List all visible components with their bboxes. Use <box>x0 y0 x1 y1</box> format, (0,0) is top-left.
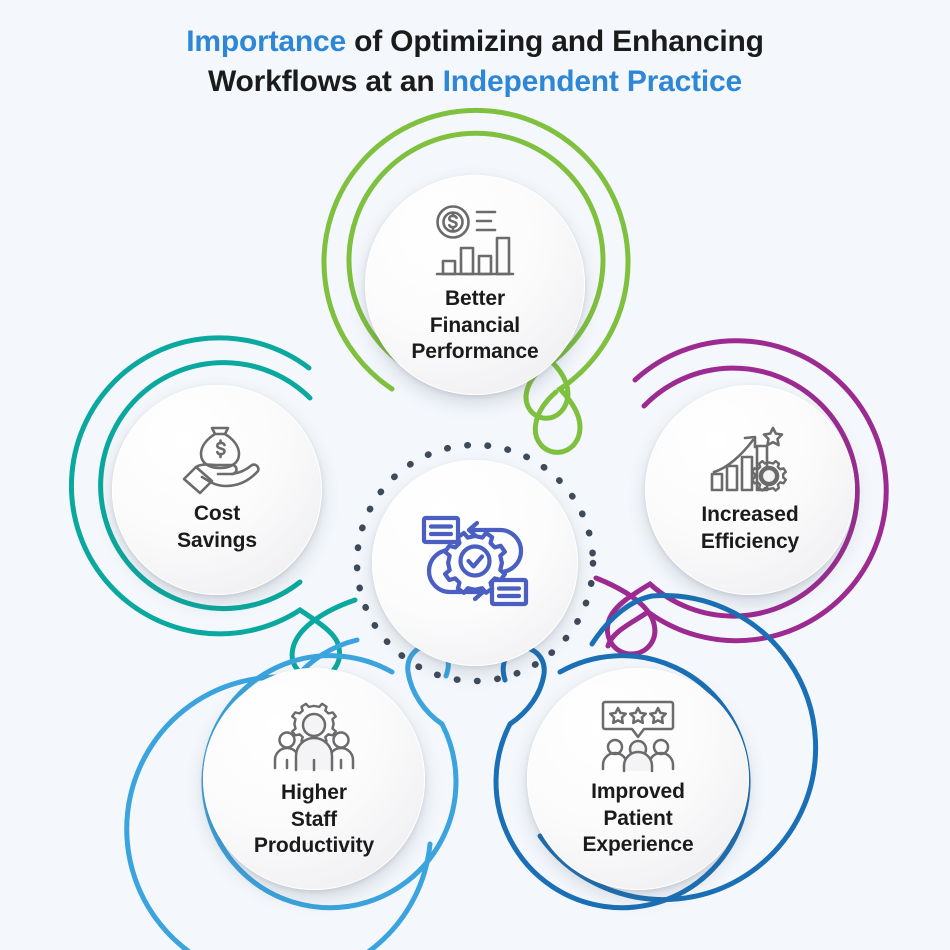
node-label: Better Financial Performance <box>411 286 538 367</box>
node-label: Increased Efficiency <box>701 502 799 556</box>
infographic-canvas: Importance of Optimizing and Enhancing W… <box>0 0 950 950</box>
page-title: Importance of Optimizing and Enhancing W… <box>0 22 950 102</box>
node-better-financial-performance[interactable]: Better Financial Performance <box>365 175 585 395</box>
title-line-1: Importance of Optimizing and Enhancing <box>0 22 950 62</box>
money-coin-bar-chart-icon <box>433 204 517 280</box>
title-rest-2: Workflows at an <box>208 65 443 98</box>
title-accent-independent-practice: Independent Practice <box>443 65 742 98</box>
title-line-2: Workflows at an Independent Practice <box>0 62 950 102</box>
node-improved-patient-experience[interactable]: Improved Patient Experience <box>527 668 749 890</box>
workflow-process-gear-icon <box>416 502 534 625</box>
node-cost-savings[interactable]: Cost Savings <box>112 385 322 595</box>
node-label: Higher Staff Productivity <box>254 780 374 861</box>
growth-chart-star-gear-icon <box>709 424 791 496</box>
node-higher-staff-productivity[interactable]: Higher Staff Productivity <box>203 668 425 890</box>
node-increased-efficiency[interactable]: Increased Efficiency <box>645 385 855 595</box>
title-rest-1: of Optimizing and Enhancing <box>346 25 764 58</box>
star-review-people-icon <box>597 699 679 773</box>
hand-money-bag-icon <box>174 425 260 495</box>
gear-people-team-icon <box>272 698 356 774</box>
node-label: Cost Savings <box>177 501 257 555</box>
node-label: Improved Patient Experience <box>582 779 693 860</box>
center-hub[interactable] <box>372 460 578 666</box>
title-accent-importance: Importance <box>186 25 346 58</box>
